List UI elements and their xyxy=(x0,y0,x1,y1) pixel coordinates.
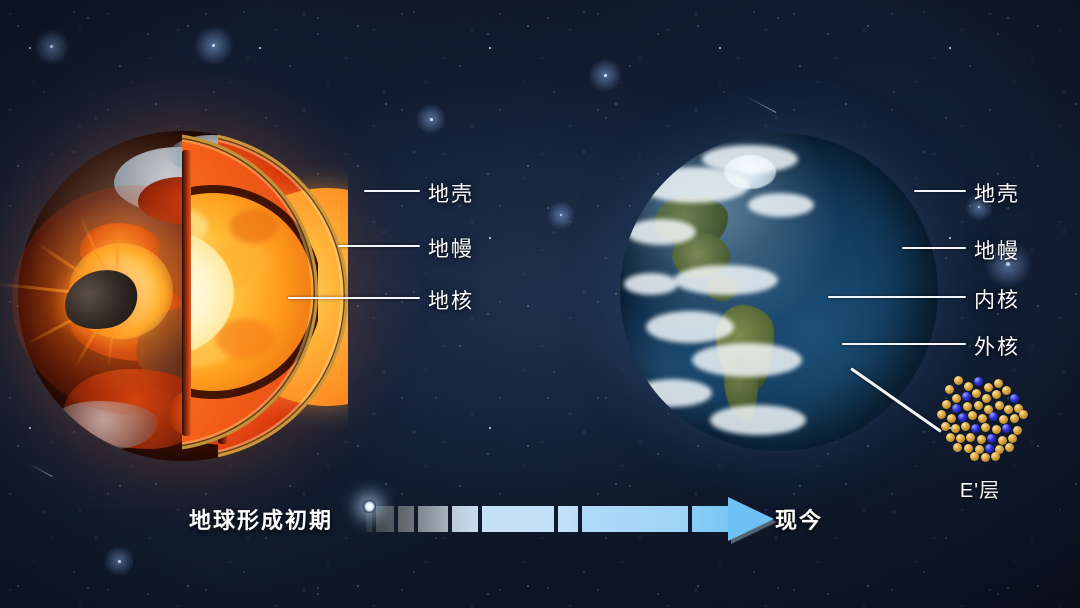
eprime-layer-label: E'层 xyxy=(932,474,1028,503)
present-earth-cut-face xyxy=(182,150,191,436)
gold-atom xyxy=(994,379,1003,388)
gold-atom xyxy=(954,376,963,385)
leader-line-core-left xyxy=(288,297,420,299)
gold-atom xyxy=(981,423,990,432)
leader-line-crust-right xyxy=(914,190,966,192)
gold-atom xyxy=(941,422,950,431)
gold-atom xyxy=(1019,410,1028,419)
gold-atom xyxy=(964,382,973,391)
space-background: 地壳 地幔 地核 地壳 地幔 内核 外核 xyxy=(0,0,1080,608)
meteor-streak xyxy=(746,96,776,113)
leader-line-crust-left xyxy=(364,190,420,192)
gold-atom xyxy=(984,383,993,392)
gold-atom xyxy=(981,453,990,462)
blue-atom xyxy=(987,434,996,443)
gold-atom xyxy=(951,424,960,433)
gold-atom xyxy=(982,394,991,403)
present-earth-globe xyxy=(620,133,938,451)
timeline-origin-spark xyxy=(363,500,376,513)
leader-line-mantle-left xyxy=(338,245,420,247)
blue-atom xyxy=(974,377,983,386)
timeline-segment xyxy=(450,506,480,532)
timeline-arrowhead xyxy=(728,497,776,541)
gold-atom xyxy=(999,415,1008,424)
timeline-segment xyxy=(396,506,416,532)
bright-star xyxy=(604,74,607,77)
label-outer-core-right: 外核 xyxy=(974,331,1020,361)
gold-atom xyxy=(956,434,965,443)
gold-atom xyxy=(942,400,951,409)
cloud xyxy=(692,343,802,377)
cloud xyxy=(646,311,734,343)
cloud xyxy=(674,265,778,295)
eprime-layer-molecule-cluster xyxy=(932,374,1028,458)
gold-atom xyxy=(963,402,972,411)
present-earth-cutaway xyxy=(182,133,318,451)
timeline-end-label: 现今 xyxy=(775,503,823,535)
blue-atom xyxy=(1002,424,1011,433)
bright-star xyxy=(212,44,215,47)
timeline-start-label: 地球形成初期 xyxy=(189,503,333,535)
leader-line-mantle-right xyxy=(902,247,966,249)
present-earth-crust-rim xyxy=(182,133,318,451)
gold-atom xyxy=(945,385,954,394)
gold-atom xyxy=(992,390,1001,399)
gold-atom xyxy=(977,435,986,444)
timeline-segment xyxy=(580,506,690,532)
gold-atom xyxy=(1004,405,1013,414)
gold-atom xyxy=(978,414,987,423)
leader-line-inner-core-right xyxy=(828,296,966,298)
cloud xyxy=(702,145,798,173)
timeline-segment xyxy=(374,506,396,532)
cloud xyxy=(624,273,678,295)
cloud xyxy=(626,219,696,245)
timeline-segment xyxy=(480,506,556,532)
label-core-left: 地核 xyxy=(428,285,474,315)
bright-star xyxy=(118,560,121,563)
meteor-streak xyxy=(29,464,52,477)
blue-atom xyxy=(1010,394,1019,403)
gold-atom xyxy=(937,410,946,419)
bright-star xyxy=(430,118,433,121)
timeline-arrow xyxy=(364,502,732,536)
label-crust-right: 地壳 xyxy=(974,178,1020,208)
gold-atom xyxy=(946,433,955,442)
gold-atom xyxy=(947,414,956,423)
blue-atom xyxy=(971,424,980,433)
gold-atom xyxy=(953,443,962,452)
timeline-segment xyxy=(556,506,580,532)
label-crust-left: 地壳 xyxy=(428,178,474,208)
cloud xyxy=(634,379,712,407)
gold-atom xyxy=(970,452,979,461)
blue-atom xyxy=(989,412,998,421)
timeline-segment xyxy=(416,506,450,532)
ice-cap-patch xyxy=(48,401,158,449)
gold-atom xyxy=(972,389,981,398)
label-mantle-right: 地幔 xyxy=(974,235,1020,265)
leader-line-outer-core-right xyxy=(842,343,966,345)
blue-atom xyxy=(958,413,967,422)
blue-atom xyxy=(962,392,971,401)
bright-star xyxy=(560,214,562,216)
timeline-segment xyxy=(690,506,732,532)
gold-atom xyxy=(952,394,961,403)
cloud xyxy=(638,167,750,203)
gold-atom xyxy=(991,452,1000,461)
arrowhead xyxy=(728,497,774,541)
gold-atom xyxy=(992,425,1001,434)
gold-atom xyxy=(1005,443,1014,452)
blue-atom xyxy=(952,404,961,413)
present-earth-surface xyxy=(620,133,938,451)
gold-atom xyxy=(1010,414,1019,423)
cloud xyxy=(748,193,814,217)
label-inner-core-right: 内核 xyxy=(974,284,1020,314)
label-mantle-left: 地幔 xyxy=(428,233,474,263)
gold-atom xyxy=(968,411,977,420)
gold-atom xyxy=(1008,434,1017,443)
bright-star xyxy=(50,45,53,48)
gold-atom xyxy=(974,401,983,410)
gold-atom xyxy=(961,422,970,431)
cloud xyxy=(710,405,806,435)
gold-atom xyxy=(966,433,975,442)
gold-atom xyxy=(995,401,1004,410)
gold-atom xyxy=(1002,386,1011,395)
